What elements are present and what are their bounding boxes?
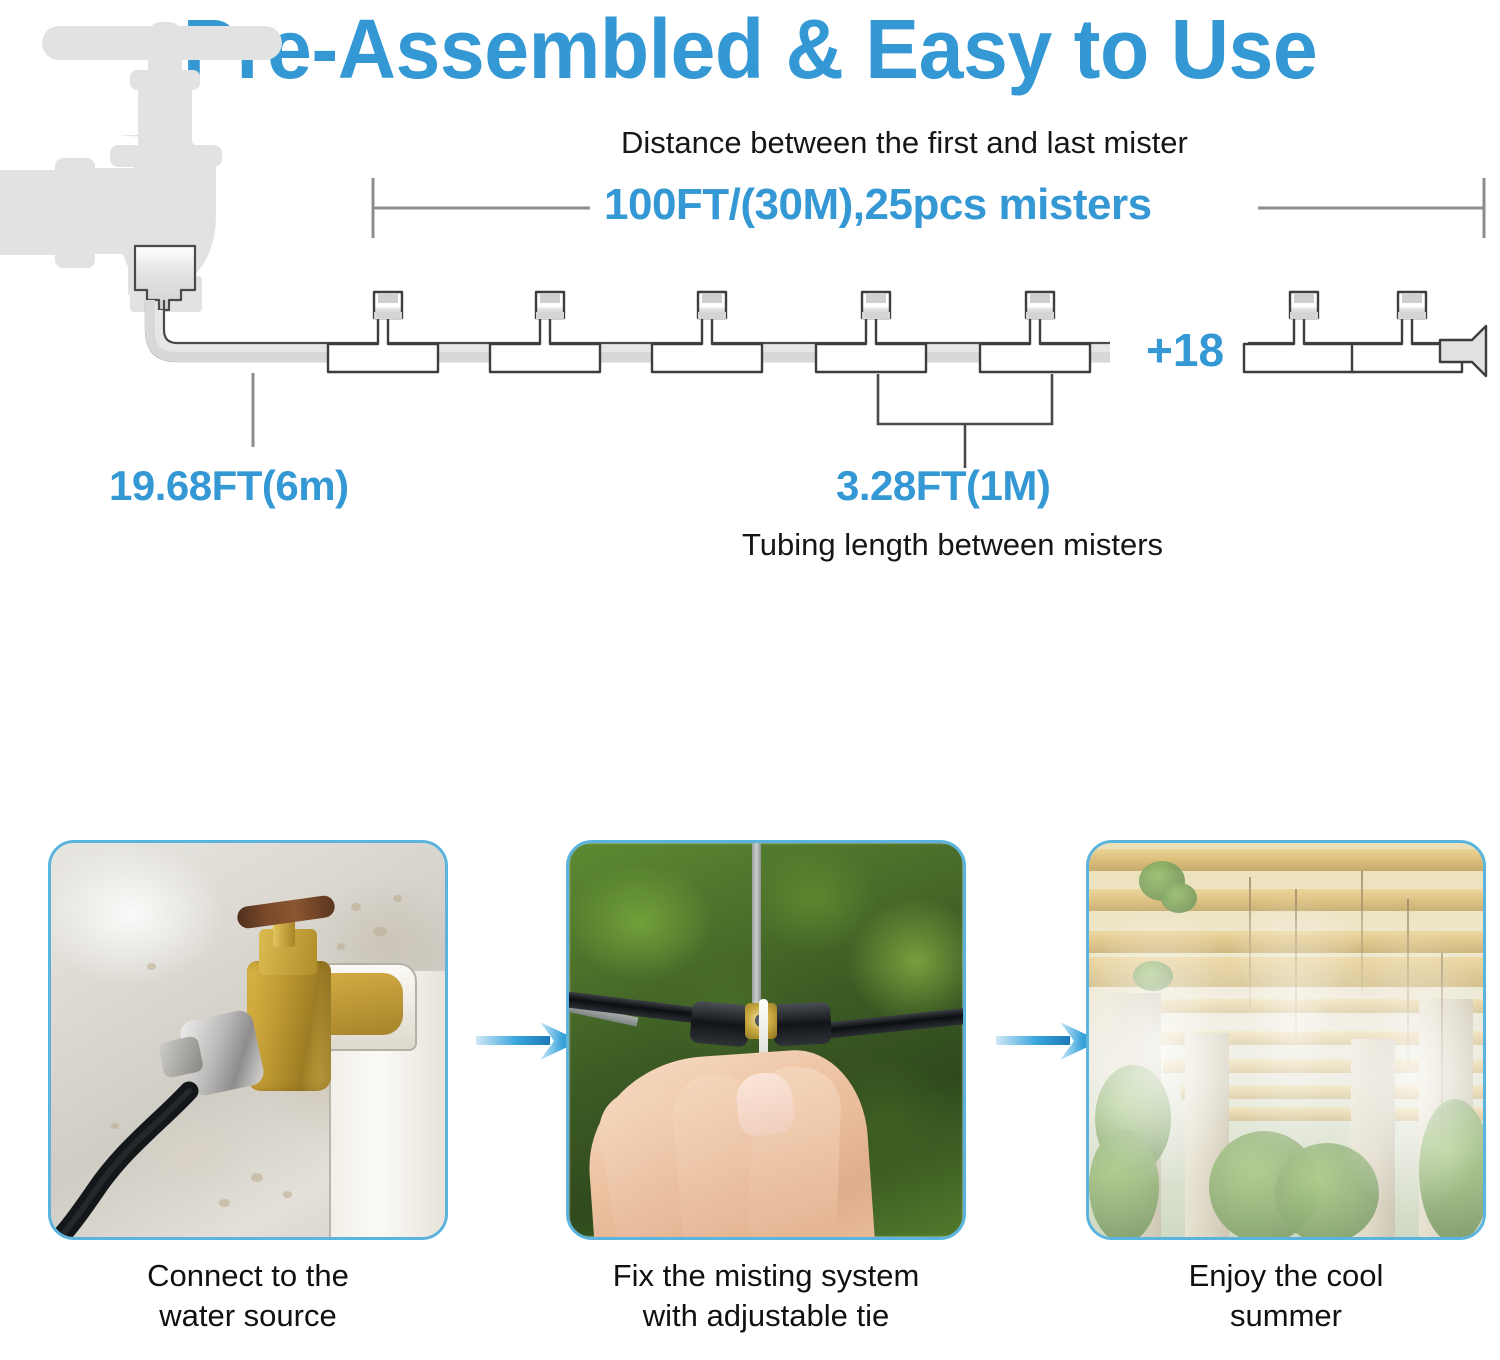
step-2: Fix the misting system with adjustable t… xyxy=(566,840,966,1336)
step-3-caption: Enjoy the cool summer xyxy=(1086,1256,1486,1336)
tube-connector-right xyxy=(772,1002,832,1047)
tube-connector-left xyxy=(689,1001,750,1048)
mister-tee-nozzle xyxy=(1244,292,1354,372)
step-3-photo xyxy=(1086,840,1486,1240)
diagram-spacing-label: 3.28FT(1M) xyxy=(836,462,1050,510)
tubing-line-main-upper xyxy=(164,300,1110,343)
diagram-extra-misters-label: +18 xyxy=(1146,323,1224,377)
step-1-photo xyxy=(48,840,448,1240)
mister-tee-nozzle xyxy=(490,292,600,372)
tubing-fill-main xyxy=(155,310,1110,352)
infographic-page: Pre-Assembled & Easy to Use xyxy=(0,0,1500,1360)
cooling-mist-overlay xyxy=(1089,843,1483,1237)
diagram-total-length-label: 100FT/(30M),25pcs misters xyxy=(604,180,1152,230)
step-1: Connect to the water source xyxy=(48,840,448,1336)
mister-tee-nozzle xyxy=(980,292,1090,372)
step-2-photo xyxy=(566,840,966,1240)
diagram-spacing-caption: Tubing length between misters xyxy=(742,527,1163,563)
diagram-top-caption: Distance between the first and last mist… xyxy=(621,125,1188,161)
dimension-bracket-spacing xyxy=(878,374,1052,468)
mister-tee-nozzle xyxy=(652,292,762,372)
misting-system-diagram: Distance between the first and last mist… xyxy=(0,0,1500,600)
step-2-caption: Fix the misting system with adjustable t… xyxy=(566,1256,966,1336)
diagram-svg xyxy=(0,0,1500,600)
black-hose xyxy=(51,843,448,1240)
mister-tee-nozzle xyxy=(816,292,926,372)
steps-row: Connect to the water source xyxy=(0,840,1500,1360)
mister-group-right xyxy=(1244,292,1462,372)
diagram-lead-length-label: 19.68FT(6m) xyxy=(109,462,349,510)
step-3: Enjoy the cool summer xyxy=(1086,840,1486,1336)
step-1-caption: Connect to the water source xyxy=(48,1256,448,1336)
mister-tee-nozzle xyxy=(328,292,438,372)
